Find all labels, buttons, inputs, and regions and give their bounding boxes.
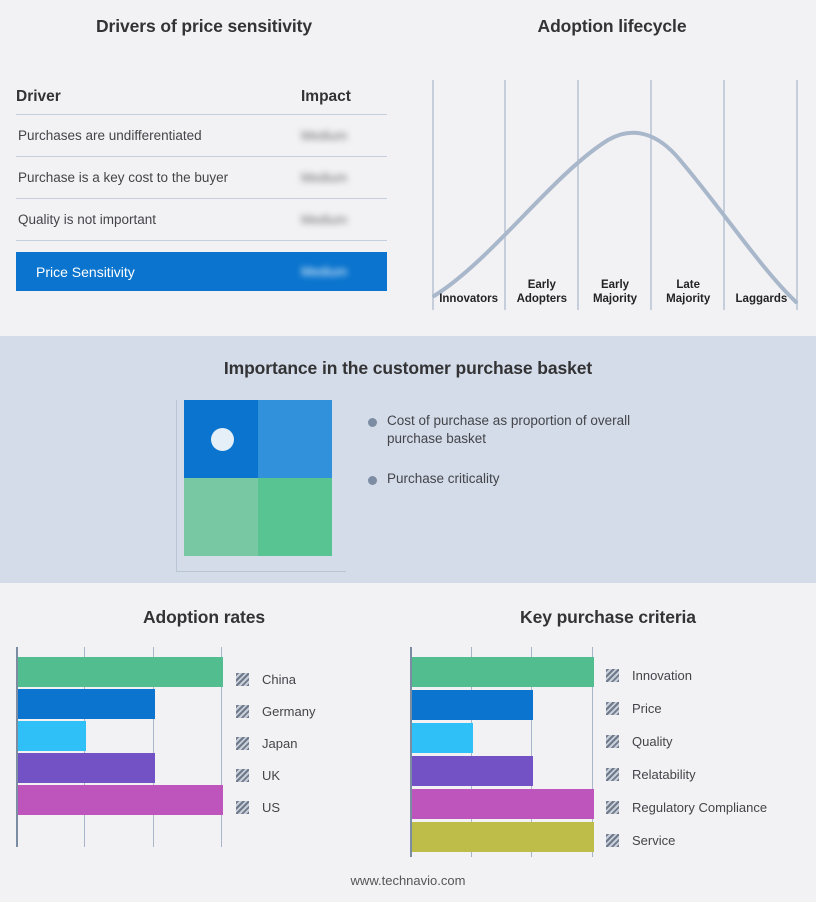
summary-impact: Medium <box>301 264 387 279</box>
legend-label: Innovation <box>632 668 692 683</box>
impact-value-text: Medium <box>301 170 347 185</box>
legend-swatch-icon <box>606 834 619 847</box>
drivers-table: Driver Impact Purchases are undifferenti… <box>16 88 387 291</box>
legend-label: Relatability <box>632 767 696 782</box>
impact-value: Medium <box>301 212 387 227</box>
lifecycle-stage-labels: Innovators Early Adopters Early Majority… <box>432 262 798 310</box>
lifecycle-stage-late-majority: Late Majority <box>652 262 725 310</box>
list-item: Purchase criticality <box>368 470 698 488</box>
quadrant-bottom-left <box>184 478 258 556</box>
stage-line-2: Laggards <box>725 293 798 307</box>
summary-impact-text: Medium <box>301 264 347 279</box>
bullet-icon <box>368 418 377 427</box>
driver-label: Purchases are undifferentiated <box>16 128 301 143</box>
legend-item: UK <box>236 759 315 791</box>
adoption-rates-chart <box>16 647 221 847</box>
purchase-basket-panel: Importance in the customer purchase bask… <box>0 336 816 583</box>
stage-line-1: Late <box>652 279 725 293</box>
legend-label: China <box>262 672 296 687</box>
matrix-quadrants <box>184 400 332 556</box>
column-header-driver: Driver <box>16 88 301 106</box>
bar <box>18 689 155 719</box>
impact-value-text: Medium <box>301 212 347 227</box>
drivers-title: Drivers of price sensitivity <box>0 16 408 37</box>
lifecycle-stage-early-majority: Early Majority <box>578 262 651 310</box>
key-purchase-criteria-chart <box>410 647 592 857</box>
adoption-lifecycle-panel: Adoption lifecycle Innovators Early Adop… <box>408 0 816 336</box>
adoption-rates-title: Adoption rates <box>0 607 408 628</box>
impact-value: Medium <box>301 128 387 143</box>
quadrant-bottom-right <box>258 478 332 556</box>
legend-label: Price <box>632 701 662 716</box>
lifecycle-stage-early-adopters: Early Adopters <box>505 262 578 310</box>
legend-item: Relatability <box>606 758 767 791</box>
legend-swatch-icon <box>236 737 249 750</box>
bar <box>412 822 594 852</box>
bar <box>412 723 473 753</box>
legend-label: Regulatory Compliance <box>632 800 767 815</box>
legend-swatch-icon <box>606 801 619 814</box>
legend-item: Price <box>606 692 767 725</box>
legend-label: UK <box>262 768 280 783</box>
impact-value-text: Medium <box>301 128 347 143</box>
bar <box>18 753 155 783</box>
lifecycle-stage-laggards: Laggards <box>725 262 798 310</box>
legend-item: Innovation <box>606 659 767 692</box>
table-row: Purchases are undifferentiated Medium <box>16 115 387 157</box>
bar <box>18 785 223 815</box>
legend-swatch-icon <box>606 702 619 715</box>
driver-label: Purchase is a key cost to the buyer <box>16 170 301 185</box>
legend-item: China <box>236 663 315 695</box>
adoption-rates-panel: Adoption rates ChinaGermanyJapanUKUS <box>0 583 408 902</box>
bar <box>412 789 594 819</box>
legend-item: Quality <box>606 725 767 758</box>
basket-legend: Cost of purchase as proportion of overal… <box>368 412 698 510</box>
legend-swatch-icon <box>236 769 249 782</box>
impact-value: Medium <box>301 170 387 185</box>
legend-item: Japan <box>236 727 315 759</box>
table-row: Quality is not important Medium <box>16 199 387 241</box>
summary-label: Price Sensitivity <box>16 264 301 280</box>
key-purchase-criteria-legend: InnovationPriceQualityRelatabilityRegula… <box>606 659 767 857</box>
legend-label: Service <box>632 833 675 848</box>
legend-item: Service <box>606 824 767 857</box>
stage-line-2: Majority <box>652 293 725 307</box>
bullet-icon <box>368 476 377 485</box>
position-marker-dot <box>211 428 234 451</box>
drivers-panel: Drivers of price sensitivity Driver Impa… <box>0 0 408 336</box>
list-item: Cost of purchase as proportion of overal… <box>368 412 698 448</box>
legend-swatch-icon <box>606 735 619 748</box>
stage-line-2: Innovators <box>432 293 505 307</box>
basket-legend-label: Purchase criticality <box>387 470 500 488</box>
key-purchase-criteria-panel: Key purchase criteria InnovationPriceQua… <box>400 583 816 902</box>
adoption-rates-legend: ChinaGermanyJapanUKUS <box>236 663 315 823</box>
quadrant-top-right <box>258 400 332 478</box>
legend-label: Germany <box>262 704 315 719</box>
bar <box>18 721 86 751</box>
bar <box>412 756 533 786</box>
stage-line-2: Majority <box>578 293 651 307</box>
basket-matrix-chart <box>176 400 346 572</box>
legend-swatch-icon <box>236 801 249 814</box>
legend-item: US <box>236 791 315 823</box>
bar <box>412 690 533 720</box>
legend-label: US <box>262 800 280 815</box>
driver-label: Quality is not important <box>16 212 301 227</box>
basket-title: Importance in the customer purchase bask… <box>0 358 816 379</box>
bar <box>18 657 223 687</box>
stage-line-1: Early <box>578 279 651 293</box>
bar <box>412 657 594 687</box>
lifecycle-stage-innovators: Innovators <box>432 262 505 310</box>
legend-item: Regulatory Compliance <box>606 791 767 824</box>
legend-swatch-icon <box>606 768 619 781</box>
footer-url: www.technavio.com <box>0 873 816 888</box>
quadrant-top-left <box>184 400 258 478</box>
legend-swatch-icon <box>236 705 249 718</box>
legend-label: Japan <box>262 736 297 751</box>
key-purchase-criteria-title: Key purchase criteria <box>400 607 816 628</box>
table-header-row: Driver Impact <box>16 88 387 115</box>
legend-swatch-icon <box>606 669 619 682</box>
basket-legend-label: Cost of purchase as proportion of overal… <box>387 412 652 448</box>
stage-line-2: Adopters <box>505 293 578 307</box>
table-row: Purchase is a key cost to the buyer Medi… <box>16 157 387 199</box>
stage-line-1: Early <box>505 279 578 293</box>
legend-item: Germany <box>236 695 315 727</box>
legend-swatch-icon <box>236 673 249 686</box>
legend-label: Quality <box>632 734 672 749</box>
price-sensitivity-summary-row: Price Sensitivity Medium <box>16 252 387 291</box>
lifecycle-title: Adoption lifecycle <box>408 16 816 37</box>
column-header-impact: Impact <box>301 88 387 106</box>
